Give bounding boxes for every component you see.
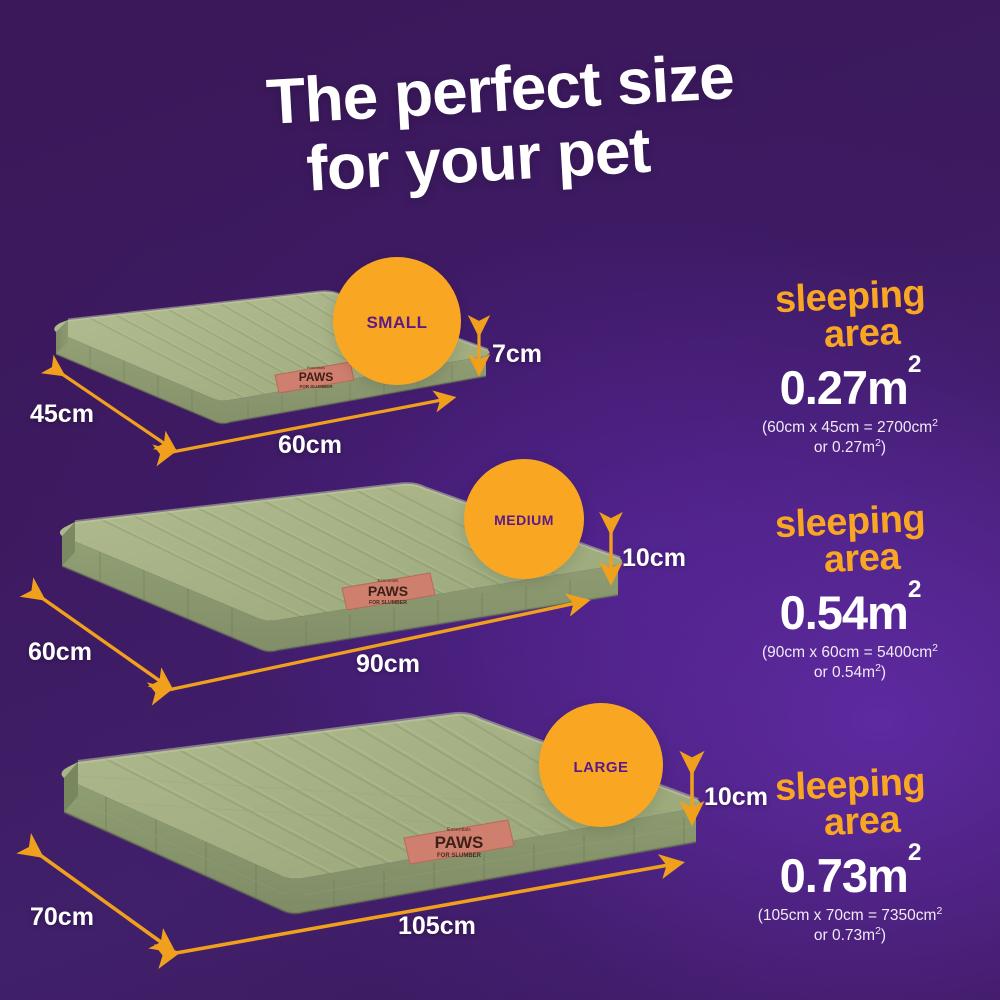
sleeping-area-detail-large: (105cm x 70cm = 7350cm2 or 0.73m2) (700, 905, 1000, 946)
sleeping-area-value-small-number: 0.27m (780, 361, 908, 414)
size-badge-small[interactable]: Small (333, 257, 461, 385)
page-title: The perfect size for your pet (0, 58, 1000, 189)
dimension-label-medium-width: 90cm (356, 650, 420, 679)
size-badge-large[interactable]: Large (539, 703, 663, 827)
sleeping-area-detail-medium-line2: or 0.54m (814, 665, 875, 682)
dimension-label-large-depth: 70cm (30, 903, 94, 932)
sleeping-area-value-large: 0.73m2 (700, 852, 1000, 899)
svg-text:PAWS: PAWS (435, 833, 484, 852)
dimension-label-small-height: 7cm (492, 340, 542, 369)
sleeping-area-detail-large-line1-sup: 2 (936, 905, 942, 917)
sleeping-area-detail-large-line2: or 0.73m (814, 928, 875, 945)
svg-text:PAWS: PAWS (368, 583, 408, 599)
sleeping-area-detail-medium-line1-sup: 2 (932, 642, 938, 654)
sleeping-area-detail-small-line1-sup: 2 (932, 417, 938, 429)
svg-text:FOR SLUMBER: FOR SLUMBER (369, 600, 407, 606)
title-line-1: The perfect size (0, 30, 1000, 148)
svg-text:FOR SLUMBER: FOR SLUMBER (437, 853, 482, 859)
sleeping-area-block-small: sleeping area 0.27m2 (60cm x 45cm = 2700… (700, 280, 1000, 458)
sleeping-area-detail-small-line2: or 0.27m (814, 440, 875, 457)
sleeping-area-detail-large-line2-end: ) (881, 928, 886, 945)
dimension-label-small-width: 60cm (278, 431, 342, 460)
dimension-label-small-depth: 45cm (30, 400, 94, 429)
dimension-label-medium-height: 10cm (622, 544, 686, 573)
sleeping-area-detail-small: (60cm x 45cm = 2700cm2 or 0.27m2) (700, 417, 1000, 458)
sleeping-area-value-small: 0.27m2 (700, 364, 1000, 411)
sleeping-area-heading-large: sleeping area (700, 768, 1000, 840)
sleeping-area-value-medium: 0.54m2 (700, 589, 1000, 636)
sleeping-area-value-large-number: 0.73m (780, 849, 908, 902)
sleeping-area-value-large-exponent: 2 (908, 839, 921, 866)
sleeping-area-detail-large-line1: (105cm x 70cm = 7350cm (758, 907, 937, 924)
sleeping-area-heading-small: sleeping area (700, 280, 1000, 352)
svg-text:PAWS: PAWS (299, 370, 333, 384)
size-badge-medium-label: Medium (494, 508, 554, 531)
sleeping-area-detail-medium-line2-end: ) (881, 665, 886, 682)
sleeping-area-detail-medium: (90cm x 60cm = 5400cm2 or 0.54m2) (700, 642, 1000, 683)
title-line-2: for your pet (0, 100, 979, 218)
sleeping-area-value-medium-number: 0.54m (780, 586, 908, 639)
sleeping-area-block-medium: sleeping area 0.54m2 (90cm x 60cm = 5400… (700, 505, 1000, 683)
sleeping-area-detail-small-line2-end: ) (881, 440, 886, 457)
sleeping-area-detail-medium-line1: (90cm x 60cm = 5400cm (762, 644, 932, 661)
dimension-label-medium-depth: 60cm (28, 638, 92, 667)
sleeping-area-heading-medium: sleeping area (700, 505, 1000, 577)
sleeping-area-value-medium-exponent: 2 (908, 576, 921, 603)
size-badge-large-label: Large (574, 752, 629, 778)
size-badge-small-label: Small (366, 307, 427, 335)
svg-text:FOR SLUMBER: FOR SLUMBER (300, 384, 334, 389)
infographic-canvas: The perfect size for your pet (0, 0, 1000, 1000)
size-badge-medium[interactable]: Medium (464, 459, 584, 579)
dimension-label-large-width: 105cm (398, 912, 476, 941)
sleeping-area-value-small-exponent: 2 (908, 351, 921, 378)
sleeping-area-detail-small-line1: (60cm x 45cm = 2700cm (762, 419, 932, 436)
sleeping-area-block-large: sleeping area 0.73m2 (105cm x 70cm = 735… (700, 768, 1000, 946)
